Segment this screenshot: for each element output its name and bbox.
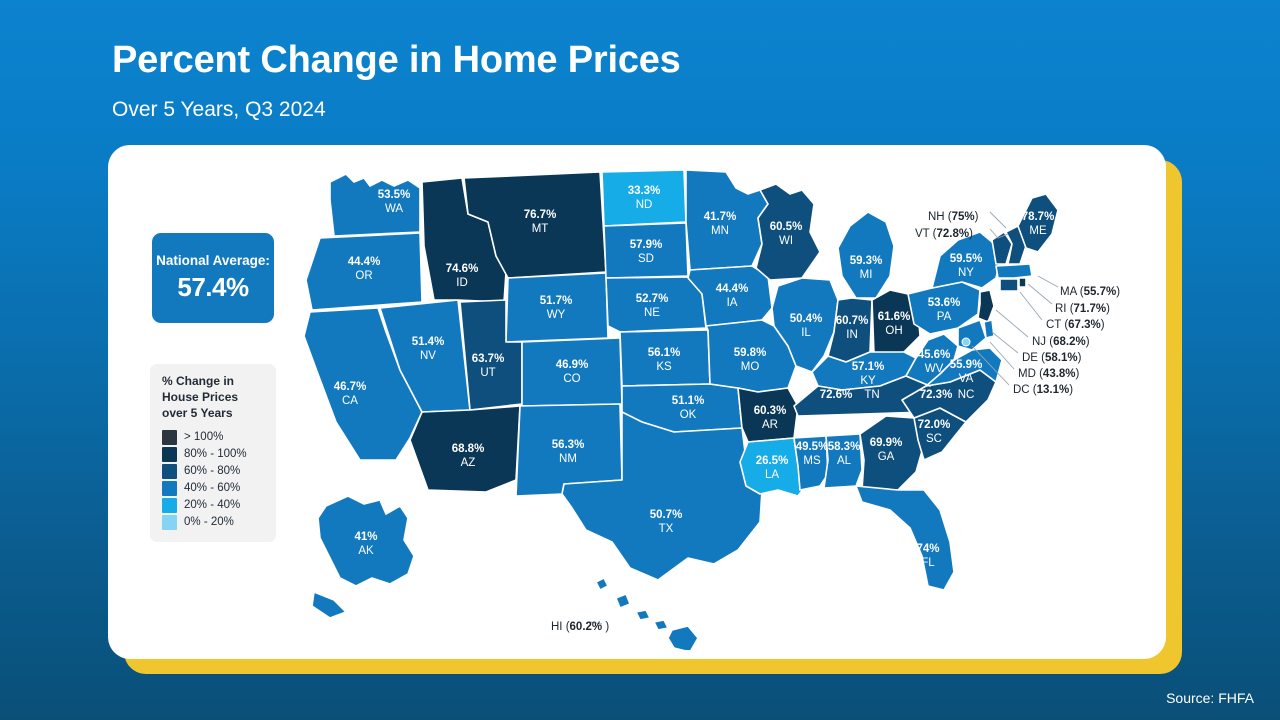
legend-swatch <box>162 481 177 496</box>
state-ND[interactable]: 33.3%ND <box>602 170 686 226</box>
svg-text:SD: SD <box>638 253 654 265</box>
svg-text:49.5%: 49.5% <box>796 441 829 453</box>
callout-suffix: ) <box>1078 352 1082 364</box>
callout-suffix: ) <box>1086 336 1090 348</box>
state-RI[interactable] <box>1019 278 1026 287</box>
callout-prefix: HI ( <box>551 621 570 633</box>
svg-text:IL: IL <box>801 327 811 339</box>
svg-text:52.7%: 52.7% <box>636 293 669 305</box>
svg-text:74%: 74% <box>916 543 939 555</box>
svg-text:CO: CO <box>563 373 580 385</box>
callout-value: 43.8% <box>1043 368 1076 380</box>
svg-text:IN: IN <box>846 329 858 341</box>
svg-text:NV: NV <box>420 350 436 362</box>
svg-text:NM: NM <box>559 453 577 465</box>
legend-row[interactable]: 60% - 80% <box>162 463 266 480</box>
state-callout-de[interactable]: DE (58.1%) <box>1022 353 1081 365</box>
svg-text:MN: MN <box>711 225 729 237</box>
svg-text:60.3%: 60.3% <box>754 405 787 417</box>
state-AL[interactable]: 58.3%AL <box>824 434 862 488</box>
svg-text:WI: WI <box>779 235 793 247</box>
state-NJ[interactable] <box>978 290 994 322</box>
source-note: Source: FHFA <box>1166 690 1254 706</box>
callout-value: 68.2% <box>1053 336 1086 348</box>
state-callout-ct[interactable]: CT (67.3%) <box>1046 320 1105 332</box>
callout-prefix: DC ( <box>1013 384 1037 396</box>
svg-text:OH: OH <box>885 325 902 337</box>
state-AK[interactable]: 41%AK <box>312 496 414 618</box>
svg-text:ME: ME <box>1029 225 1047 237</box>
svg-text:68.8%: 68.8% <box>452 443 485 455</box>
state-callout-dc[interactable]: DC (13.1%) <box>1013 385 1073 397</box>
state-OR[interactable]: 44.4%OR <box>306 233 422 310</box>
callout-suffix: ) <box>975 211 979 223</box>
svg-text:UT: UT <box>480 367 495 379</box>
state-CT[interactable] <box>1000 279 1018 291</box>
svg-text:46.9%: 46.9% <box>556 359 589 371</box>
svg-text:WY: WY <box>547 309 566 321</box>
svg-text:58.3%: 58.3% <box>828 441 861 453</box>
callout-prefix: MD ( <box>1018 368 1043 380</box>
legend-swatch <box>162 447 177 462</box>
legend-label: 0% - 20% <box>184 516 234 528</box>
callout-prefix: RI ( <box>1055 303 1074 315</box>
svg-text:69.9%: 69.9% <box>870 437 903 449</box>
svg-text:60.5%: 60.5% <box>770 221 803 233</box>
svg-text:50.7%: 50.7% <box>650 509 683 521</box>
legend-row[interactable]: > 100% <box>162 429 266 446</box>
svg-text:51.4%: 51.4% <box>412 336 445 348</box>
svg-text:57.9%: 57.9% <box>630 239 663 251</box>
legend-row[interactable]: 20% - 40% <box>162 497 266 514</box>
callout-value: 55.7% <box>1084 286 1117 298</box>
state-GA[interactable]: 69.9%GA <box>860 416 924 490</box>
svg-text:KS: KS <box>656 361 672 373</box>
svg-text:46.7%: 46.7% <box>334 381 367 393</box>
callout-prefix: VT ( <box>915 228 937 240</box>
svg-text:PA: PA <box>937 311 952 323</box>
svg-text:KY: KY <box>860 375 876 387</box>
svg-text:OK: OK <box>680 409 697 421</box>
legend-swatch <box>162 498 177 513</box>
state-WY[interactable]: 51.7%WY <box>506 273 608 342</box>
svg-text:MI: MI <box>860 269 873 281</box>
svg-text:44.4%: 44.4% <box>348 256 381 268</box>
map-legend: % Change in House Prices over 5 Years > … <box>150 364 276 542</box>
callout-value: 67.3% <box>1068 319 1101 331</box>
svg-text:56.1%: 56.1% <box>648 347 681 359</box>
svg-text:74.6%: 74.6% <box>446 263 479 275</box>
callout-suffix: ) <box>1106 303 1110 315</box>
legend-items: > 100%80% - 100%60% - 80%40% - 60%20% - … <box>162 429 266 531</box>
svg-text:51.7%: 51.7% <box>540 295 573 307</box>
svg-text:VA: VA <box>959 373 974 385</box>
svg-text:MO: MO <box>741 361 760 373</box>
legend-row[interactable]: 40% - 60% <box>162 480 266 497</box>
svg-text:51.1%: 51.1% <box>672 395 705 407</box>
svg-text:AR: AR <box>762 419 778 431</box>
svg-text:41%: 41% <box>354 531 377 543</box>
state-callout-nj[interactable]: NJ (68.2%) <box>1032 337 1090 349</box>
page-title: Percent Change in Home Prices <box>112 40 681 82</box>
legend-label: 40% - 60% <box>184 482 240 494</box>
state-callout-md[interactable]: MD (43.8%) <box>1018 369 1079 381</box>
callout-value: 58.1% <box>1045 352 1078 364</box>
legend-label: 80% - 100% <box>184 448 247 460</box>
svg-text:MS: MS <box>803 455 821 467</box>
state-WA[interactable]: 53.5%WA <box>330 174 420 236</box>
svg-text:53.5%: 53.5% <box>378 189 411 201</box>
state-MS[interactable]: 49.5%MS <box>794 436 828 490</box>
svg-text:ID: ID <box>456 277 468 289</box>
svg-text:44.4%: 44.4% <box>716 283 749 295</box>
svg-text:55.9%: 55.9% <box>950 359 983 371</box>
svg-text:56.3%: 56.3% <box>552 439 585 451</box>
svg-text:59.3%: 59.3% <box>850 255 883 267</box>
callout-prefix: NH ( <box>928 211 952 223</box>
state-MI[interactable]: 59.3%MI <box>838 212 894 298</box>
svg-text:72.0%: 72.0% <box>918 419 951 431</box>
legend-row[interactable]: 80% - 100% <box>162 446 266 463</box>
callout-value: 75% <box>952 211 975 223</box>
svg-text:NY: NY <box>958 267 974 279</box>
svg-text:45.6%: 45.6% <box>918 349 951 361</box>
callout-value: 60.2% <box>570 621 603 633</box>
callout-suffix: ) <box>1116 286 1120 298</box>
header: Percent Change in Home Prices Over 5 Yea… <box>112 40 681 122</box>
callout-value: 71.7% <box>1074 303 1107 315</box>
svg-text:GA: GA <box>878 451 895 463</box>
legend-swatch <box>162 515 177 530</box>
legend-swatch <box>162 430 177 445</box>
svg-text:50.4%: 50.4% <box>790 313 823 325</box>
svg-text:NC: NC <box>958 389 975 401</box>
svg-text:NE: NE <box>644 307 660 319</box>
svg-text:LA: LA <box>765 469 779 481</box>
svg-text:AK: AK <box>358 545 374 557</box>
svg-text:MT: MT <box>532 223 549 235</box>
national-average-label: National Average: <box>156 253 270 270</box>
callout-prefix: DE ( <box>1022 352 1045 364</box>
svg-text:TX: TX <box>659 523 674 535</box>
svg-text:53.6%: 53.6% <box>928 297 961 309</box>
svg-text:IA: IA <box>727 297 738 309</box>
state-CO[interactable]: 46.9%CO <box>522 338 622 406</box>
svg-text:SC: SC <box>926 433 942 445</box>
svg-text:59.8%: 59.8% <box>734 347 767 359</box>
svg-text:60.7%: 60.7% <box>836 315 869 327</box>
callout-prefix: MA ( <box>1060 286 1084 298</box>
svg-text:76.7%: 76.7% <box>524 209 557 221</box>
svg-text:26.5%: 26.5% <box>756 455 789 467</box>
callout-suffix: ) <box>969 228 973 240</box>
state-callout-ma[interactable]: MA (55.7%) <box>1060 287 1120 299</box>
legend-swatch <box>162 464 177 479</box>
svg-text:72.3%: 72.3% <box>920 389 953 401</box>
svg-text:72.6%: 72.6% <box>820 389 853 401</box>
state-callout-nh[interactable]: NH (75%) <box>928 212 979 224</box>
national-average-value: 57.4% <box>177 272 248 303</box>
state-HI[interactable] <box>596 578 698 650</box>
page-subtitle: Over 5 Years, Q3 2024 <box>112 98 681 122</box>
svg-text:41.7%: 41.7% <box>704 211 737 223</box>
state-MA[interactable] <box>996 264 1032 278</box>
callout-suffix: ) <box>1101 319 1105 331</box>
state-AZ[interactable]: 68.8%AZ <box>410 406 520 492</box>
state-FL[interactable]: 74%FL <box>856 486 954 590</box>
svg-text:ND: ND <box>636 199 653 211</box>
svg-text:AL: AL <box>837 455 852 467</box>
svg-text:78.7%: 78.7% <box>1022 211 1055 223</box>
state-KS[interactable]: 56.1%KS <box>620 330 710 386</box>
state-callout-ri[interactable]: RI (71.7%) <box>1055 304 1110 316</box>
legend-label: 20% - 40% <box>184 499 240 511</box>
state-WI[interactable]: 60.5%WI <box>756 184 820 280</box>
callout-prefix: CT ( <box>1046 319 1068 331</box>
svg-text:AZ: AZ <box>461 457 476 469</box>
state-AR[interactable]: 60.3%AR <box>738 388 798 442</box>
svg-text:61.6%: 61.6% <box>878 311 911 323</box>
legend-row[interactable]: 0% - 20% <box>162 514 266 531</box>
state-DC[interactable] <box>962 338 970 346</box>
legend-label: 60% - 80% <box>184 465 240 477</box>
callout-value: 13.1% <box>1037 384 1070 396</box>
callout-value: 72.8% <box>937 228 970 240</box>
svg-text:63.7%: 63.7% <box>472 353 505 365</box>
svg-text:WA: WA <box>385 203 403 215</box>
svg-text:OR: OR <box>355 270 372 282</box>
svg-text:59.5%: 59.5% <box>950 253 983 265</box>
svg-text:57.1%: 57.1% <box>852 361 885 373</box>
state-callout-hi[interactable]: HI (60.2% ) <box>551 622 609 634</box>
state-NE[interactable]: 52.7%NE <box>606 277 706 332</box>
national-average-box: National Average: 57.4% <box>152 233 274 323</box>
svg-text:FL: FL <box>921 557 935 569</box>
state-MN[interactable]: 41.7%MN <box>686 170 768 270</box>
legend-title: % Change in House Prices over 5 Years <box>162 374 266 422</box>
callout-suffix: ) <box>1076 368 1080 380</box>
state-SD[interactable]: 57.9%SD <box>604 223 688 278</box>
callout-suffix: ) <box>1069 384 1073 396</box>
legend-label: > 100% <box>184 431 223 443</box>
svg-text:33.3%: 33.3% <box>628 185 661 197</box>
callout-prefix: NJ ( <box>1032 336 1053 348</box>
state-ME[interactable]: 78.7%ME <box>1018 194 1058 252</box>
callout-suffix: ) <box>602 621 609 633</box>
svg-text:TN: TN <box>864 389 879 401</box>
svg-text:CA: CA <box>342 395 358 407</box>
state-callout-vt[interactable]: VT (72.8%) <box>915 229 973 241</box>
